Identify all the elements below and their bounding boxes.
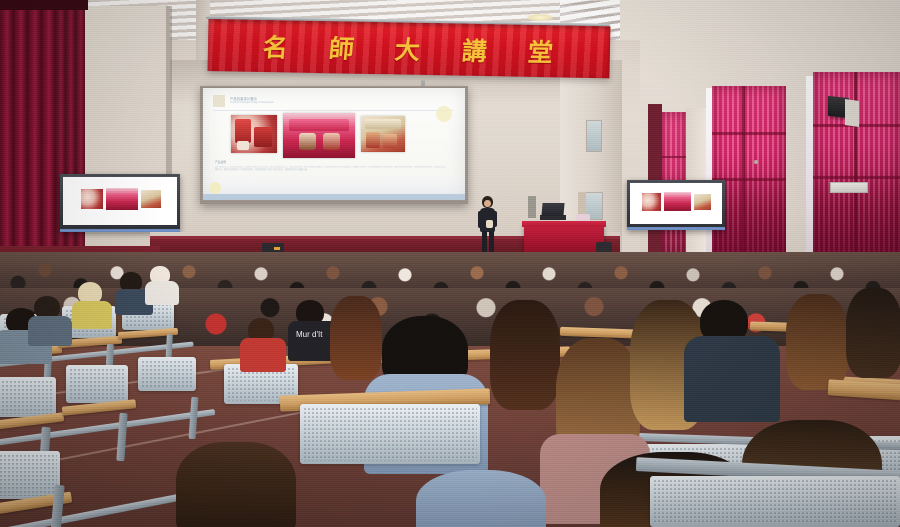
presenter-arm [493,211,497,227]
table-papers [576,214,590,221]
slide-photo-3 [361,116,405,152]
banner-char-3: 大 [394,30,424,66]
banner-char-1: 名 [262,28,292,64]
left-stage-curtain [0,0,62,268]
slide-accent-square [213,95,225,107]
person-shoulders [416,470,546,527]
right-wall-monitor [627,180,725,230]
seat-back[interactable] [0,451,60,499]
banner-char-2: 師 [328,29,358,65]
slide-decor-dot [209,182,221,194]
slide-footer-band [203,194,465,200]
air-conditioner-unit [830,182,868,193]
downlight-icon [527,14,553,21]
person-long-hair [846,288,900,378]
window-mullion [712,132,786,135]
mic-stand [528,196,536,218]
slide-photo-1 [231,115,277,153]
window-light-gap [806,76,813,262]
slide-body-heading: 产品说明 [215,160,226,164]
speaker-bracket [845,99,859,127]
presenter-held-item [486,220,493,228]
seat-back[interactable] [138,357,196,391]
presenter-leg [489,231,494,253]
monitor-strip [627,227,725,230]
slide-photo-2 [283,113,355,158]
panel-light-icon [274,247,280,250]
booth-window [586,120,602,152]
slide-decor-dot [436,106,452,122]
banner-char-4: 講 [460,32,490,68]
seat-back-foreground[interactable] [300,404,480,464]
left-wall-monitor [60,174,180,232]
seat-back-foreground[interactable] [650,476,900,527]
curtain-rail-left [0,0,88,10]
person-long-hair [786,294,848,390]
presenter-face [484,200,491,207]
person-long-hair [330,296,382,380]
window-mullion [660,156,686,158]
person-shoulders [28,316,72,346]
person-torso [684,336,780,422]
slide-divider [213,110,453,111]
person-head [176,442,296,527]
event-banner: 名 師 大 講 堂 [208,19,611,78]
wall-fixture [754,160,758,164]
presenter-table-top [522,221,606,227]
person-long-hair [490,300,560,410]
speaker-presenter [476,196,500,258]
presenter-table [524,224,604,254]
person-shoulders [145,281,179,305]
seat-back[interactable] [0,377,56,417]
slide-subtitle: Product Package Design Presentation [230,101,274,104]
seat-back[interactable] [66,365,128,403]
auditorium-photo: 名 師 大 講 堂 名師大講堂 产品包装设计展示 Product Package… [0,0,900,527]
projection-screen: 产品包装设计展示 Product Package Design Presenta… [203,88,465,200]
laptop-screen [541,203,564,216]
person-shoulders [72,301,112,329]
person-shoulders [240,338,286,372]
presenter-arm [478,211,482,228]
presenter-leg [482,231,487,253]
banner-text: 名 師 大 講 堂 [208,19,611,78]
slide-body-text: 该产品采用工艺礼盒包装形式，整体以中国红为主色调，配合烫金装饰工艺，突出传统文化… [215,166,445,188]
banner-char-5: 堂 [526,33,556,69]
